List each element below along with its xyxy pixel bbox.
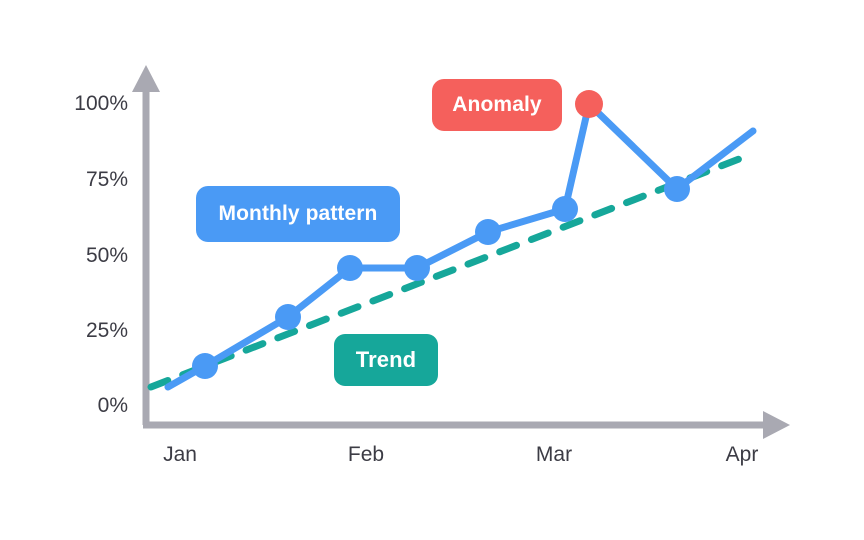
chart-container: 100% 75% 50% 25% 0% Jan Feb Mar Apr Mont… [0, 0, 864, 540]
x-tick-label-apr: Apr [726, 443, 759, 467]
annotation-label-trend: Trend [356, 347, 416, 373]
annotation-badge-trend[interactable]: Trend [334, 334, 438, 386]
x-axis [143, 411, 790, 439]
data-point[interactable] [552, 196, 578, 222]
annotation-badge-anomaly[interactable]: Anomaly [432, 79, 562, 131]
x-tick-label-jan: Jan [163, 443, 197, 467]
data-point[interactable] [475, 219, 501, 245]
y-tick-label-75: 75% [18, 168, 128, 192]
y-axis [132, 65, 160, 425]
x-tick-label-feb: Feb [348, 443, 384, 467]
data-point[interactable] [192, 353, 218, 379]
anomaly-data-point[interactable] [575, 90, 603, 118]
y-tick-label-0: 0% [18, 394, 128, 418]
data-point[interactable] [337, 255, 363, 281]
annotation-badge-monthly-pattern[interactable]: Monthly pattern [196, 186, 400, 242]
data-point[interactable] [275, 304, 301, 330]
annotation-label-anomaly: Anomaly [452, 93, 541, 117]
y-axis-arrow-icon [132, 65, 160, 92]
y-tick-label-50: 50% [18, 244, 128, 268]
y-tick-label-100: 100% [18, 92, 128, 116]
y-tick-label-25: 25% [18, 319, 128, 343]
data-point[interactable] [664, 176, 690, 202]
data-point[interactable] [404, 255, 430, 281]
x-axis-arrow-icon [763, 411, 790, 439]
x-tick-label-mar: Mar [536, 443, 572, 467]
annotation-label-monthly-pattern: Monthly pattern [219, 202, 378, 226]
